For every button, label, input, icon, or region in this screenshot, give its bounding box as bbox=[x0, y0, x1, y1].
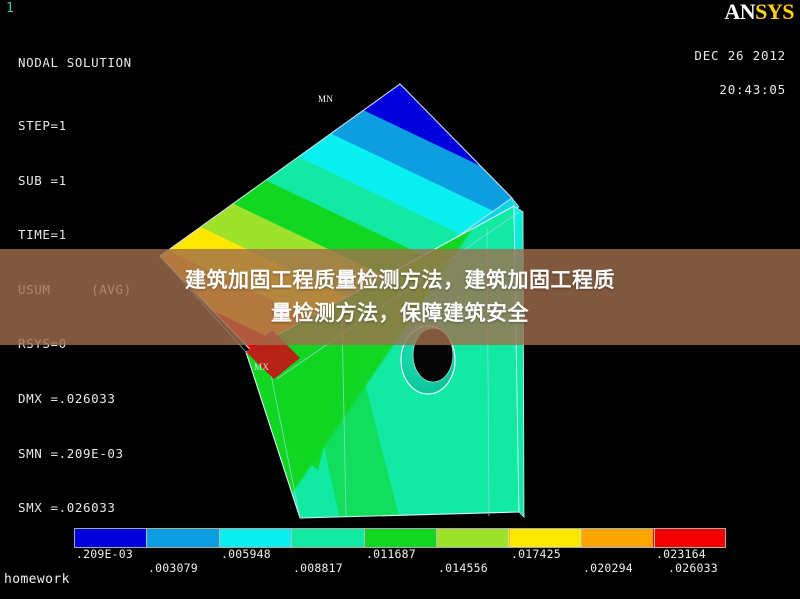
max-node-label: MX bbox=[254, 363, 269, 372]
colorbar-band-1 bbox=[75, 529, 147, 547]
timestamp: DEC 26 2012 20:43:05 bbox=[661, 30, 786, 115]
caption-line-1: 建筑加固工程质量检测方法，建筑加固工程质 bbox=[185, 268, 615, 292]
ansys-logo-an: AN bbox=[724, 0, 755, 24]
contour-legend-labels: .209E-03.003079.005948.008817.011687.014… bbox=[0, 548, 800, 578]
colorbar-band-7 bbox=[508, 529, 580, 547]
caption-banner-overlay: 建筑加固工程质量检测方法，建筑加固工程质 量检测方法，保障建筑安全 bbox=[0, 249, 800, 345]
ansys-graphics-window: 1 NODAL SOLUTION STEP=1 SUB =1 TIME=1 US… bbox=[0, 0, 800, 599]
info-line-smx: SMX =.026033 bbox=[18, 499, 132, 517]
ansys-logo: ANSYS bbox=[724, 1, 794, 23]
info-line-time: TIME=1 bbox=[18, 226, 132, 244]
colorbar-band-6 bbox=[436, 529, 508, 547]
colorbar-label-10: .026033 bbox=[668, 562, 718, 575]
colorbar-label-9: .023164 bbox=[656, 548, 706, 561]
colorbar-label-6: .014556 bbox=[438, 562, 488, 575]
contour-legend bbox=[74, 528, 726, 548]
footer-title: homework bbox=[4, 572, 70, 587]
caption-line-2: 量检测方法，保障建筑安全 bbox=[271, 301, 529, 325]
colorbar-band-9 bbox=[653, 529, 725, 547]
colorbar-band-8 bbox=[581, 529, 653, 547]
info-line-smn: SMN =.209E-03 bbox=[18, 445, 132, 463]
window-number: 1 bbox=[6, 2, 14, 15]
info-line-step: STEP=1 bbox=[18, 117, 132, 135]
colorbar-label-5: .011687 bbox=[366, 548, 416, 561]
info-line-dmx: DMX =.026033 bbox=[18, 390, 132, 408]
info-line-sub: SUB =1 bbox=[18, 172, 132, 190]
min-node-label: MN bbox=[318, 95, 333, 104]
caption-text: 建筑加固工程质量检测方法，建筑加固工程质 量检测方法，保障建筑安全 bbox=[50, 264, 750, 330]
colorbar-label-7: .017425 bbox=[511, 548, 561, 561]
timestamp-time: 20:43:05 bbox=[719, 82, 786, 97]
colorbar-label-1: .209E-03 bbox=[76, 548, 133, 561]
timestamp-date: DEC 26 2012 bbox=[694, 48, 786, 63]
info-title: NODAL SOLUTION bbox=[18, 54, 132, 72]
colorbar-label-4: .008817 bbox=[293, 562, 343, 575]
colorbar-band-3 bbox=[219, 529, 291, 547]
colorbar-band-4 bbox=[292, 529, 364, 547]
ansys-logo-sys: SYS bbox=[755, 0, 794, 24]
colorbar-band-5 bbox=[364, 529, 436, 547]
colorbar-label-3: .005948 bbox=[221, 548, 271, 561]
colorbar-label-2: .003079 bbox=[148, 562, 198, 575]
contour-colorbar bbox=[74, 528, 726, 548]
colorbar-band-2 bbox=[147, 529, 219, 547]
colorbar-label-8: .020294 bbox=[583, 562, 633, 575]
